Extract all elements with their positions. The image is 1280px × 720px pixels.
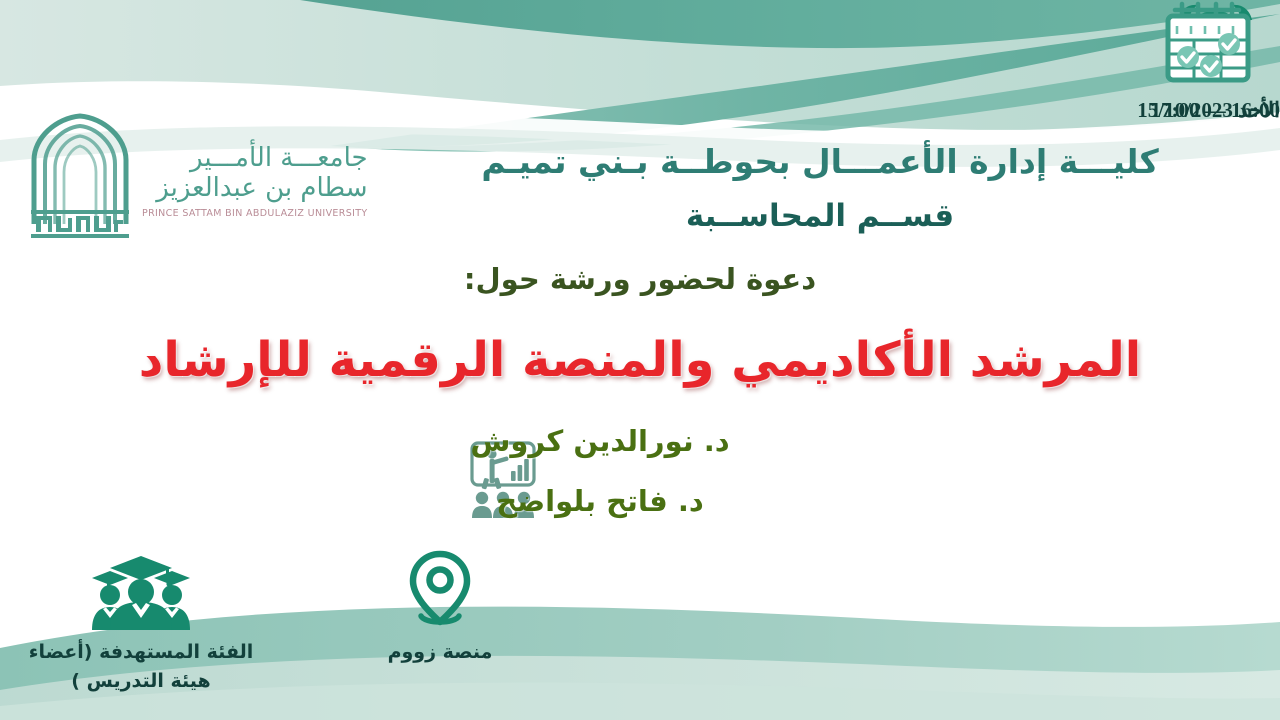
detail-audience: الفئة المستهدفة (أعضاء هيئة التدريس ) xyxy=(10,548,272,697)
faculty-title: كليـــة إدارة الأعمـــال بحوطــة بـني تم… xyxy=(400,142,1240,181)
graduates-icon xyxy=(66,548,216,630)
poster-canvas: جامعـــة الأمـــير سطام بن عبدالعزيز PRI… xyxy=(0,0,1280,720)
speaker-name-2: د. فاتح بلواضح xyxy=(340,484,860,518)
university-logo: جامعـــة الأمـــير سطام بن عبدالعزيز PRI… xyxy=(28,108,348,248)
department-title: قســم المحاســبة xyxy=(400,198,1240,234)
location-pin-icon xyxy=(401,548,479,630)
detail-audience-text: الفئة المستهدفة (أعضاء هيئة التدريس ) xyxy=(10,638,272,697)
workshop-title: المرشد الأكاديمي والمنصة الرقمية للإرشاد xyxy=(0,332,1280,388)
logo-arabic-line-2: سطام بن عبدالعزيز xyxy=(142,173,368,204)
detail-place-text: منصة زووم xyxy=(340,638,540,667)
calendar-check-icon xyxy=(1161,0,1257,86)
detail-place: منصة زووم xyxy=(340,548,540,667)
logo-arabic-line-1: جامعـــة الأمـــير xyxy=(142,143,368,174)
logo-english-name: PRINCE SATTAM BIN ABDULAZIZ UNIVERSITY xyxy=(142,208,368,219)
speaker-name-1: د. نورالدين كروش xyxy=(340,424,860,458)
invitation-text: دعوة لحضور ورشة حول: xyxy=(0,262,1280,296)
detail-date-text: الأحد 15/10/2023 xyxy=(1137,94,1280,127)
detail-date: الأحد 15/10/2023 xyxy=(1137,0,1280,127)
psau-arch-logo-icon xyxy=(28,112,132,244)
